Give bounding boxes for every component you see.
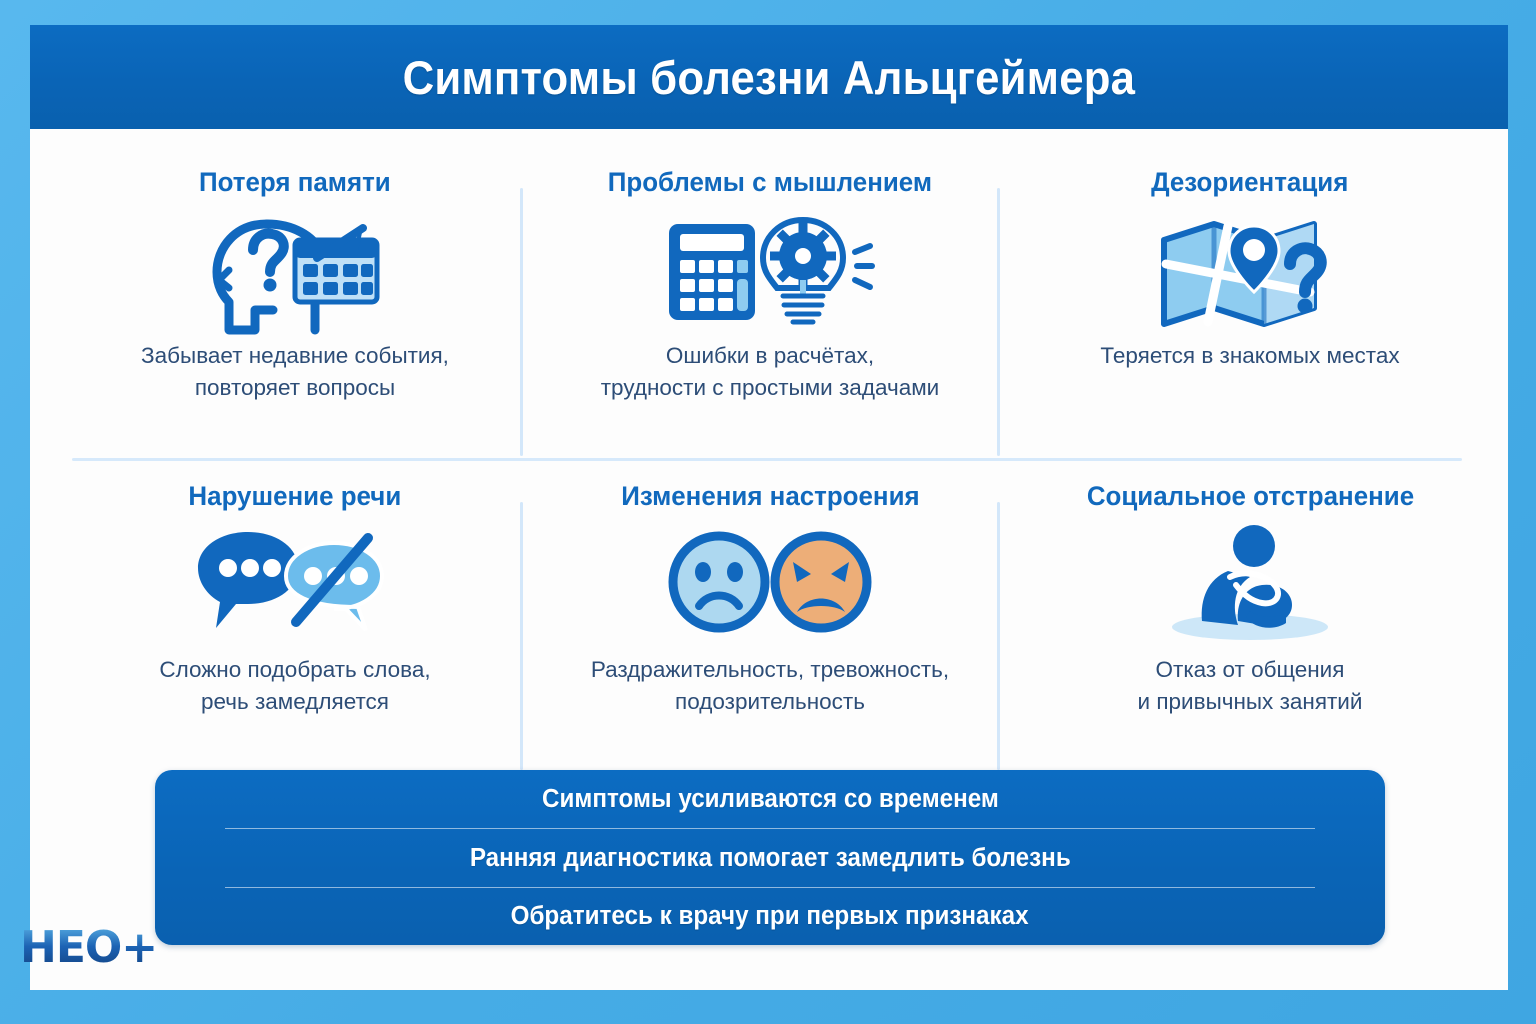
column-divider (520, 188, 523, 456)
symptom-description-line: и привычных занятий (1138, 686, 1363, 718)
symptom-description: Отказ от общения и привычных занятий (1138, 654, 1363, 718)
symptom-description: Сложно подобрать слова, речь замедляется (159, 654, 430, 718)
symptom-description-line: Забывает недавние события, (141, 340, 449, 372)
symptom-description-line: трудности с простыми задачами (601, 372, 940, 404)
page-title: Симптомы болезни Альцгеймера (403, 50, 1136, 105)
key-message-bold: к врачу (660, 902, 749, 930)
symptom-description-line: Отказ от общения (1138, 654, 1363, 686)
header-bar: Симптомы болезни Альцгеймера (30, 25, 1508, 129)
speech-bubbles-slash-icon (188, 518, 403, 650)
symptom-description: Теряется в знакомых местах (1100, 340, 1399, 372)
key-messages-panel: Симптомы усиливаются со временем Ранняя … (155, 770, 1385, 945)
brand-logo: НЕО+ (20, 922, 157, 973)
symptom-title: Дезориентация (1151, 168, 1348, 198)
key-message-tail: при первых признаках (749, 902, 1029, 930)
symptom-card-speech-impairment: Нарушение речи (75, 482, 515, 718)
symptom-title: Нарушение речи (189, 482, 402, 512)
key-message-bold: со временем (843, 785, 998, 813)
sad-angry-faces-icon (663, 518, 878, 650)
column-divider (520, 502, 523, 770)
symptom-card-social-withdrawal: Социальное отстранение (1025, 482, 1475, 718)
symptom-title: Социальное отстранение (1086, 482, 1413, 512)
symptom-description-line: Раздражительность, тревожность, (591, 654, 949, 686)
symptom-description-line: повторяет вопросы (141, 372, 449, 404)
key-message-line: Симптомы усиливаются со временем (542, 770, 999, 828)
symptom-card-memory-loss: Потеря памяти (75, 168, 515, 404)
symptom-card-disorientation: Дезориентация (1025, 168, 1475, 372)
symptom-description-line: Теряется в знакомых местах (1100, 340, 1399, 372)
symptom-description-line: Ошибки в расчётах, (601, 340, 940, 372)
calculator-lightbulb-gear-icon (663, 204, 878, 336)
key-message-plain: Ранняя диагностика помогает (470, 844, 836, 872)
key-message-bold: замедлить болезнь (835, 844, 1070, 872)
symptom-description-line: речь замедляется (159, 686, 430, 718)
symptom-description-line: Сложно подобрать слова, (159, 654, 430, 686)
symptom-description: Ошибки в расчётах, трудности с простыми … (601, 340, 940, 404)
symptom-description-line: подозрительность (591, 686, 949, 718)
key-message-line: Ранняя диагностика помогает замедлить бо… (470, 829, 1071, 887)
key-message-line: Обратитесь к врачу при первых признаках (511, 887, 1029, 945)
head-question-calendar-icon (195, 204, 395, 336)
symptom-description: Забывает недавние события, повторяет воп… (141, 340, 449, 404)
map-pin-question-icon (1150, 204, 1350, 336)
key-message-plain: Обратитесь (511, 902, 660, 930)
symptom-title: Проблемы с мышлением (608, 168, 932, 198)
key-message-plain: Симптомы усиливаются (542, 785, 844, 813)
symptom-card-thinking-problems: Проблемы с мышлением (535, 168, 1005, 404)
seated-lonely-person-icon (1150, 518, 1350, 650)
symptom-description: Раздражительность, тревожность, подозрит… (591, 654, 949, 718)
poster-background: Симптомы болезни Альцгеймера Потеря памя… (0, 0, 1536, 1024)
symptom-card-mood-changes: Изменения настроения Раздражительность, … (535, 482, 1005, 718)
symptom-title: Изменения настроения (621, 482, 919, 512)
symptoms-grid: Потеря памяти (30, 140, 1508, 760)
row-divider (72, 458, 1462, 461)
symptom-title: Потеря памяти (199, 168, 391, 198)
